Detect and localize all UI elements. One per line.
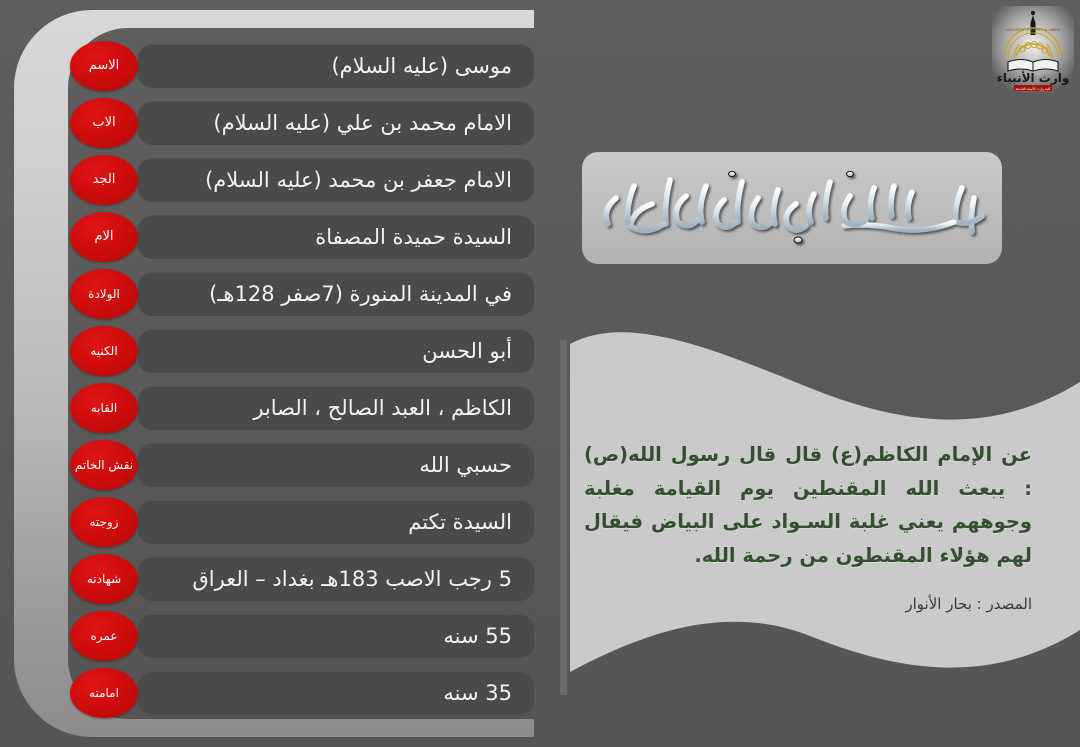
row-label-badge: الاب <box>70 98 138 148</box>
table-row[interactable]: نقش الخاتم حسبي الله <box>64 440 534 490</box>
table-row[interactable]: الولادة في المدينة المنورة (7صفر 128هـ) <box>64 269 534 319</box>
row-value: في المدينة المنورة (7صفر 128هـ) <box>138 272 534 316</box>
table-row[interactable]: امامته 35 سنه <box>64 668 534 718</box>
row-label-badge: شهادته <box>70 554 138 604</box>
hadith-source: المصدر : بحار الأنوار <box>584 595 1032 613</box>
row-value: موسى (عليه السلام) <box>138 44 534 88</box>
row-label-badge: امامته <box>70 668 138 718</box>
table-row[interactable]: الام السيدة حميدة المصفاة <box>64 212 534 262</box>
table-row[interactable]: عمره 55 سنه <box>64 611 534 661</box>
calligraphy-text: السلام على المعذب في قعر السجون <box>791 247 793 249</box>
row-label-text: عمره <box>91 630 118 643</box>
row-label-badge: نقش الخاتم <box>70 440 138 490</box>
imam-info-rows: الاسم موسى (عليه السلام) الاب الامام محم… <box>14 10 534 737</box>
table-row[interactable]: زوجته السيدة تكتم <box>64 497 534 547</box>
row-label-text: امامته <box>89 687 119 700</box>
row-label-text: الاسم <box>89 59 120 73</box>
poster-canvas: الاسم موسى (عليه السلام) الاب الامام محم… <box>0 0 1080 747</box>
university-logo: UNIVERSITY OF WARITH AL-ANBIYA وارث الأن… <box>992 6 1074 92</box>
row-label-text: الام <box>94 230 113 244</box>
row-label-badge: الولادة <box>70 269 138 319</box>
row-value: 5 رجب الاصب 183هـ بغداد – العراق <box>138 557 534 601</box>
row-value: الكاظم ، العبد الصالح ، الصابر <box>138 386 534 430</box>
row-label-text: نقش الخاتم <box>75 459 133 472</box>
row-label-badge: الكنيه <box>70 326 138 376</box>
table-row[interactable]: الاسم موسى (عليه السلام) <box>64 41 534 91</box>
row-label-badge: الام <box>70 212 138 262</box>
table-row[interactable]: الجد الامام جعفر بن محمد (عليه السلام) <box>64 155 534 205</box>
row-value: حسبي الله <box>138 443 534 487</box>
row-label-text: شهادته <box>87 573 121 586</box>
row-label-badge: القابه <box>70 383 138 433</box>
row-value: أبو الحسن <box>138 329 534 373</box>
row-label-text: زوجته <box>89 516 118 529</box>
hadith-text: عن الإمام الكاظم(ع) قال قال رسول الله(ص)… <box>584 438 1032 572</box>
row-value: 35 سنه <box>138 671 534 715</box>
row-value: الامام محمد بن علي (عليه السلام) <box>138 101 534 145</box>
row-value: الامام جعفر بن محمد (عليه السلام) <box>138 158 534 202</box>
row-value: 55 سنه <box>138 614 534 658</box>
svg-text:2017: 2017 <box>1029 76 1037 80</box>
row-label-badge: زوجته <box>70 497 138 547</box>
row-label-badge: الجد <box>70 155 138 205</box>
calligraphy-banner: السلام على المعذب في قعر السجون <box>582 152 1002 264</box>
svg-text:UNIVERSITY OF WARITH AL-ANBIYA: UNIVERSITY OF WARITH AL-ANBIYA <box>1006 28 1061 32</box>
row-label-text: الولادة <box>88 288 120 301</box>
row-label-text: الاب <box>92 116 115 130</box>
row-value: السيدة حميدة المصفاة <box>138 215 534 259</box>
table-row[interactable]: الاب الامام محمد بن علي (عليه السلام) <box>64 98 534 148</box>
row-label-text: الكنيه <box>90 345 117 358</box>
table-row[interactable]: القابه الكاظم ، العبد الصالح ، الصابر <box>64 383 534 433</box>
row-label-badge: عمره <box>70 611 138 661</box>
row-label-text: القابه <box>91 402 118 415</box>
svg-text:كلية وارث الأنبياء الجامعة: كلية وارث الأنبياء الجامعة <box>1015 86 1051 91</box>
table-row[interactable]: الكنيه أبو الحسن <box>64 326 534 376</box>
row-value: السيدة تكتم <box>138 500 534 544</box>
flag-pole-edge <box>560 340 567 695</box>
row-label-text: الجد <box>93 173 116 187</box>
row-label-badge: الاسم <box>70 41 138 91</box>
table-row[interactable]: شهادته 5 رجب الاصب 183هـ بغداد – العراق <box>64 554 534 604</box>
hadith-flag: عن الإمام الكاظم(ع) قال قال رسول الله(ص)… <box>560 330 1080 720</box>
